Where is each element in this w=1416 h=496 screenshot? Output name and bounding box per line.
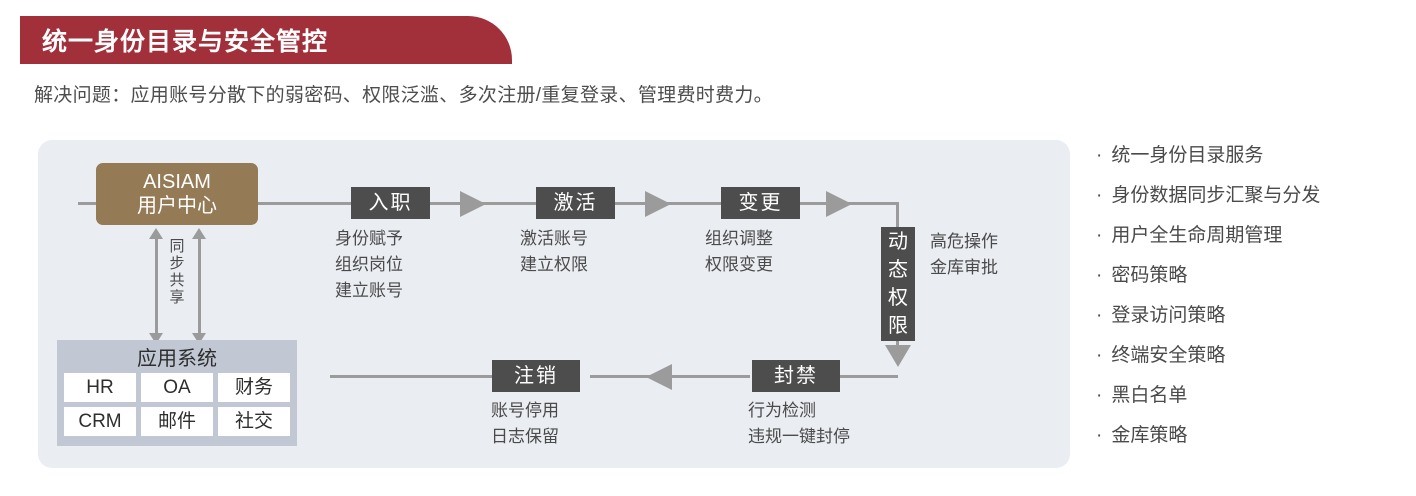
stage-box-onboard[interactable]: 入职 [351,187,430,219]
sync-arrow-left-up-icon [149,228,163,239]
flow-arrow-change-dynamic [826,191,852,217]
app-cell-mail[interactable]: 邮件 [141,407,213,436]
flow-arrow-dynamic-down [885,345,911,367]
page-title: 统一身份目录与安全管控 [42,22,328,58]
sync-line-left [155,237,158,335]
feature-label-0: 统一身份目录服务 [1111,145,1263,166]
stage-desc-change: 组织调整 权限变更 [705,226,773,278]
aisiam-center-node[interactable]: AISIAM 用户中心 [96,163,258,225]
title-banner: 统一身份目录与安全管控 [20,16,512,64]
stage-desc-onboard: 身份赋予 组织岗位 建立账号 [335,226,403,304]
stage-box-logout[interactable]: 注销 [492,360,580,392]
stage-box-ban[interactable]: 封禁 [752,360,840,392]
feature-label-5: 终端安全策略 [1111,345,1225,366]
stage-desc-activate-line1: 激活账号 [520,226,588,252]
dynamic-permission-box[interactable]: 动 态 权 限 [881,227,915,341]
aisiam-subtitle: 用户中心 [137,194,217,219]
feature-item-5: ·终端安全策略 [1096,336,1406,376]
stage-desc-ban: 行为检测 违规一键封停 [748,398,850,450]
sync-share-label: 同步共享 [168,238,186,306]
subtitle-text: 解决问题：应用账号分散下的弱密码、权限泛滥、多次注册/重复登录、管理费时费力。 [34,80,773,107]
bullet-dot-icon: · [1096,145,1102,166]
stage-desc-change-line2: 权限变更 [705,252,773,278]
app-cell-crm[interactable]: CRM [64,407,136,436]
feature-item-1: ·身份数据同步汇聚与分发 [1096,176,1406,216]
application-systems-group: 应用系统 HR OA 财务 CRM 邮件 社交 [57,340,297,446]
dynamic-permission-desc: 高危操作 金库审批 [930,229,998,281]
sync-line-right [198,237,201,335]
stage-desc-onboard-line2: 组织岗位 [335,252,403,278]
stage-desc-change-line1: 组织调整 [705,226,773,252]
stage-desc-ban-line2: 违规一键封停 [748,424,850,450]
bullet-dot-icon: · [1096,225,1102,246]
feature-label-7: 金库策略 [1111,425,1187,446]
dynamic-permission-char-3: 权 [881,284,915,312]
feature-label-3: 密码策略 [1111,265,1187,286]
bullet-dot-icon: · [1096,185,1102,206]
application-systems-title: 应用系统 [57,340,297,373]
bullet-dot-icon: · [1096,305,1102,326]
dynamic-permission-char-1: 动 [881,228,915,256]
flow-arrow-activate-change [645,191,671,217]
app-cell-oa[interactable]: OA [141,373,213,402]
bullet-dot-icon: · [1096,425,1102,446]
bullet-dot-icon: · [1096,345,1102,366]
feature-item-7: ·金库策略 [1096,416,1406,456]
feature-item-3: ·密码策略 [1096,256,1406,296]
dynamic-permission-char-2: 态 [881,256,915,284]
stage-desc-onboard-line1: 身份赋予 [335,226,403,252]
sync-arrow-right-up-icon [192,228,206,239]
feature-label-2: 用户全生命周期管理 [1111,225,1282,246]
flow-line-bottom-left [330,375,492,378]
flow-arrow-onboard-activate [460,191,486,217]
application-systems-grid: HR OA 财务 CRM 邮件 社交 [57,373,297,443]
dynamic-permission-desc-line2: 金库审批 [930,255,998,281]
feature-item-6: ·黑白名单 [1096,376,1406,416]
stage-desc-activate: 激活账号 建立权限 [520,226,588,278]
app-cell-hr[interactable]: HR [64,373,136,402]
feature-item-4: ·登录访问策略 [1096,296,1406,336]
feature-label-6: 黑白名单 [1111,385,1187,406]
stage-desc-ban-line1: 行为检测 [748,398,850,424]
feature-label-4: 登录访问策略 [1111,305,1225,326]
feature-item-0: ·统一身份目录服务 [1096,136,1406,176]
feature-item-2: ·用户全生命周期管理 [1096,216,1406,256]
flow-line-bottom-right [840,375,898,378]
app-cell-finance[interactable]: 财务 [218,373,290,402]
feature-list: ·统一身份目录服务 ·身份数据同步汇聚与分发 ·用户全生命周期管理 ·密码策略 … [1096,136,1406,456]
bullet-dot-icon: · [1096,385,1102,406]
stage-desc-activate-line2: 建立权限 [520,252,588,278]
stage-desc-logout-line2: 日志保留 [491,424,559,450]
dynamic-permission-desc-line1: 高危操作 [930,229,998,255]
stage-desc-onboard-line3: 建立账号 [335,278,403,304]
stage-desc-logout: 账号停用 日志保留 [491,398,559,450]
aisiam-title: AISIAM [143,170,211,194]
flow-arrow-ban-logout [646,364,672,390]
stage-box-change[interactable]: 变更 [721,187,800,219]
stage-desc-logout-line1: 账号停用 [491,398,559,424]
feature-label-1: 身份数据同步汇聚与分发 [1111,185,1320,206]
bullet-dot-icon: · [1096,265,1102,286]
app-cell-social[interactable]: 社交 [218,407,290,436]
dynamic-permission-char-4: 限 [881,312,915,340]
stage-box-activate[interactable]: 激活 [536,187,615,219]
